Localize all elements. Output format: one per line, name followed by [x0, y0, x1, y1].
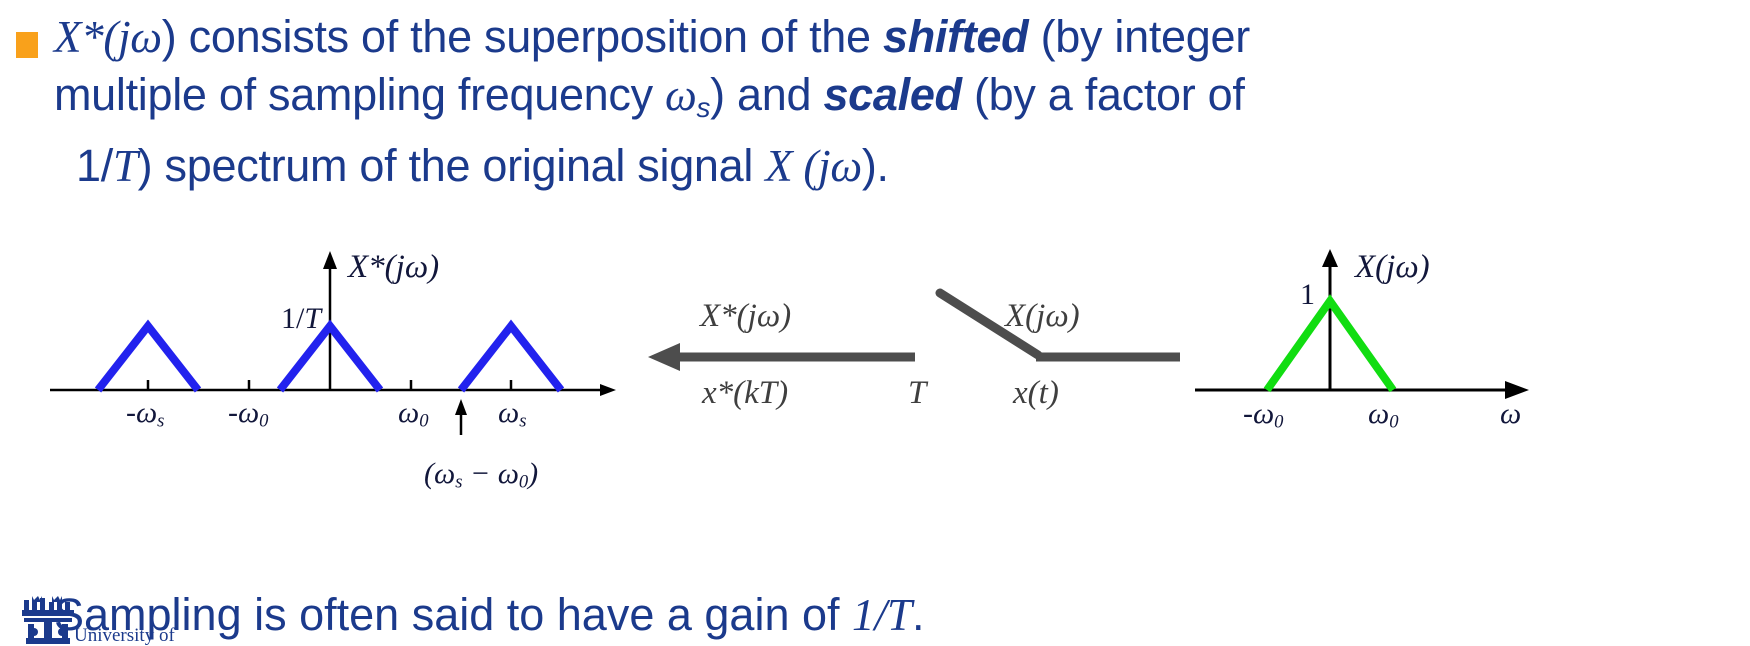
- bullet-l3-arg: (j: [792, 141, 830, 191]
- bullet-l1-post: (by integer: [1028, 11, 1250, 62]
- sampled-spectrum-title: X*(jω): [348, 249, 439, 286]
- xtick-label-omega-0: ω0: [398, 396, 428, 433]
- bullet-l2-post: (by a factor of: [962, 69, 1245, 120]
- xtick-label-omega-s: ωs: [498, 396, 526, 433]
- original-spectrum-title: X(jω): [1355, 249, 1430, 286]
- bullet-l1-omega: ω: [130, 12, 161, 62]
- y-axis-arrowhead: [1322, 249, 1338, 267]
- left-arrow-top-label: X*(jω): [700, 298, 791, 335]
- bullet-l2-omega: ω: [665, 70, 696, 120]
- right-arrow-bottom-label: x(t): [1013, 375, 1059, 412]
- left-arrow-bottom-label: x*(kT): [702, 375, 788, 412]
- original-spectrum-peak-label: 1: [1300, 278, 1315, 312]
- sampled-spectrum-annotation: (ωs − ω0): [424, 457, 538, 494]
- bullet-l3-T: T: [113, 141, 138, 191]
- bullet-l3-X: X: [765, 141, 792, 191]
- x-axis-arrowhead: [600, 384, 616, 396]
- bullet-paragraph: X*(jω) consists of the superposition of …: [8, 8, 1743, 195]
- xtick-label-minus-omega-0-right: -ω0: [1243, 397, 1283, 434]
- bullet-marker-square: [16, 32, 38, 58]
- xtick-label-minus-omega-0: -ω0: [228, 396, 268, 433]
- closing-statement-fraction: 1/T: [852, 590, 912, 640]
- switch-period-label: T: [908, 375, 926, 412]
- closing-statement-post: .: [912, 589, 925, 640]
- annotation-arrowhead: [455, 399, 467, 415]
- x-axis-label-omega: ω: [1500, 397, 1521, 431]
- bullet-text: X*(jω) consists of the superposition of …: [8, 8, 1743, 195]
- university-logo-caption: University of: [74, 626, 175, 646]
- bullet-l2-pre: multiple of sampling frequency: [54, 69, 665, 120]
- sampled-spectrum-peak-label: 1/T: [281, 302, 321, 336]
- slide-canvas: X*(jω) consists of the superposition of …: [0, 0, 1750, 644]
- figure-area: X*(jω) 1/T -ωs -ω0 ω0 ωs (ωs − ω0): [0, 235, 1750, 515]
- right-arrow-top-label: X(jω): [1005, 298, 1080, 335]
- xtick-label-minus-omega-s: -ωs: [126, 396, 164, 433]
- bullet-l2-bold: scaled: [823, 69, 961, 120]
- bullet-l2-mid: ) and: [710, 69, 823, 120]
- y-axis-arrowhead: [323, 251, 337, 269]
- bullet-l1-mid: ) consists of the superposition of the: [162, 11, 883, 62]
- left-arrow-head: [648, 343, 680, 371]
- bullet-l1-pre: X*(j: [54, 12, 130, 62]
- bullet-l1-bold: shifted: [883, 11, 1028, 62]
- closing-statement: Sampling is often said to have a gain of…: [54, 588, 925, 642]
- bullet-l3-post: ).: [862, 140, 889, 191]
- bullet-l2-omega-sub: s: [697, 92, 711, 123]
- bullet-l3-mid: ) spectrum of the original signal: [138, 140, 766, 191]
- xtick-label-omega-0-right: ω0: [1368, 397, 1398, 434]
- bullet-l3-omega: ω: [830, 141, 861, 191]
- bullet-l3-pre: 1/: [54, 140, 113, 191]
